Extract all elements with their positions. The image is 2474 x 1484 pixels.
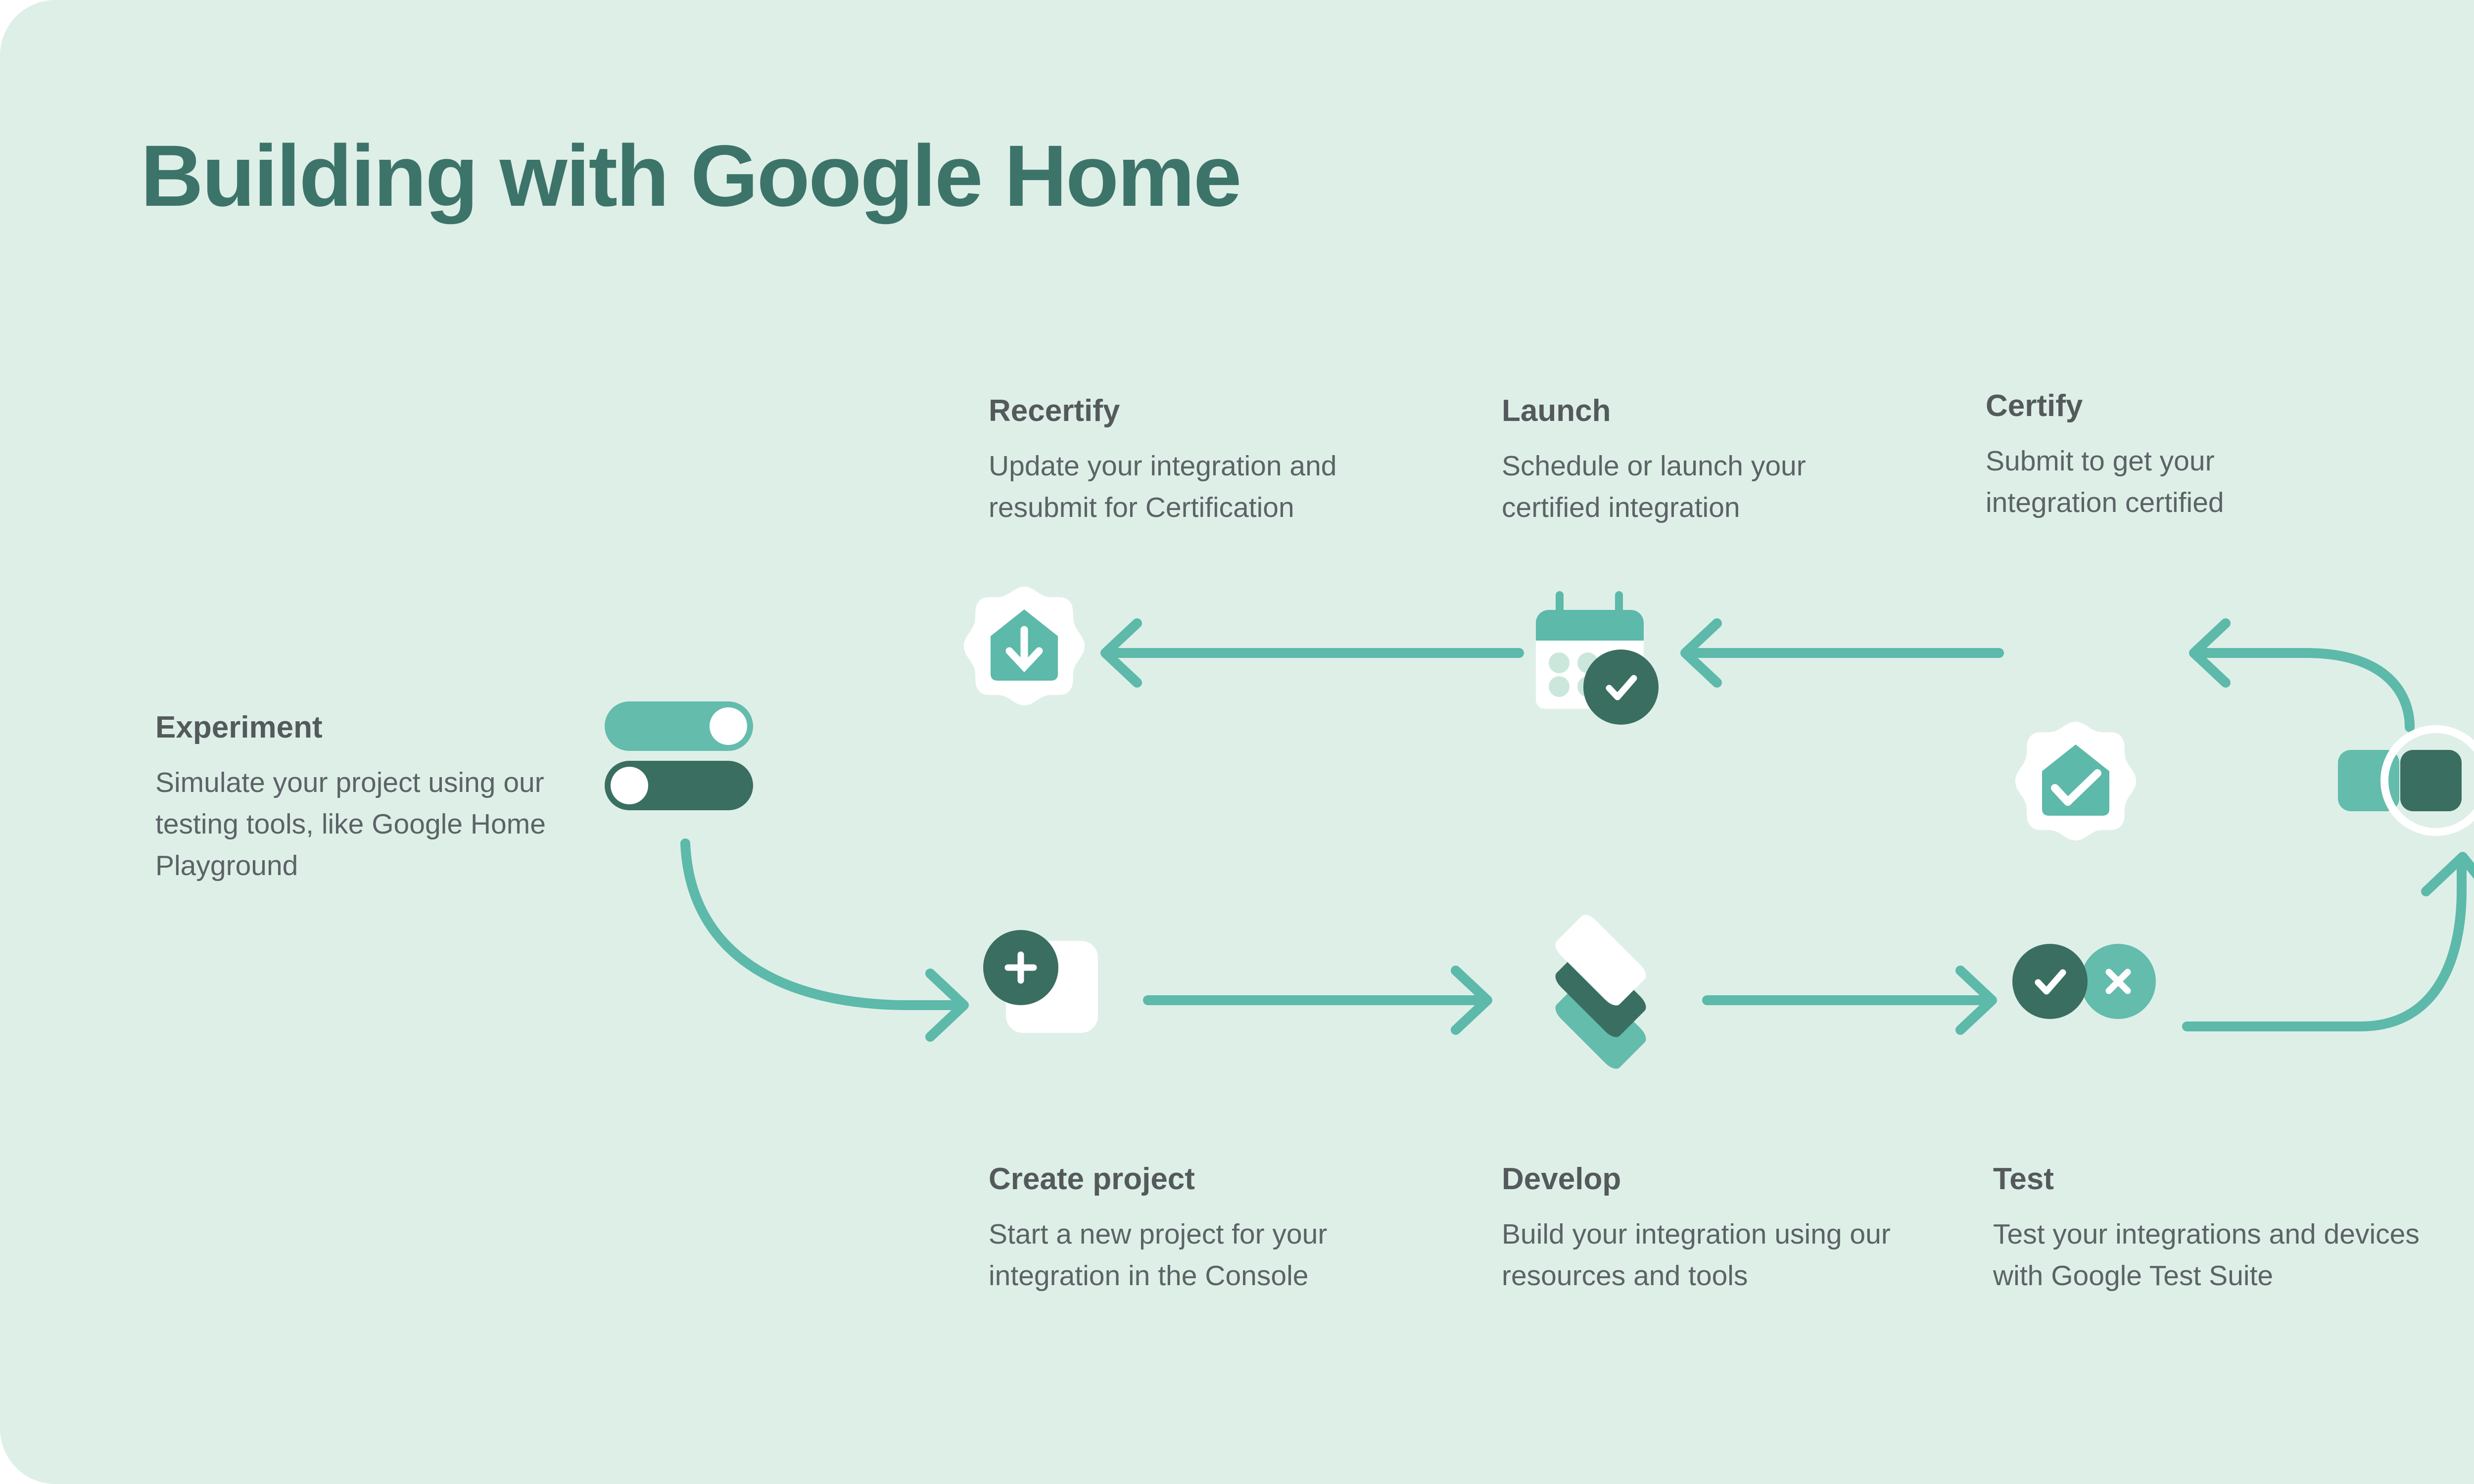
badge-download-icon[interactable] bbox=[955, 584, 1094, 722]
arrowhead-develop bbox=[1456, 971, 1487, 1030]
calendar-check-icon[interactable] bbox=[1536, 591, 1674, 730]
step-launch: Launch Schedule or launch your certified… bbox=[1502, 394, 1863, 529]
step-description-certify: Submit to get your integration certified bbox=[1986, 441, 2312, 524]
step-description-develop: Build your integration using our resourc… bbox=[1502, 1214, 1912, 1297]
check-glyph bbox=[1596, 662, 1646, 712]
step-create-project: Create project Start a new project for y… bbox=[989, 1162, 1384, 1297]
step-description-experiment: Simulate your project using our testing … bbox=[155, 762, 586, 886]
selection-ring-icon bbox=[2380, 725, 2474, 836]
calendar-day-dot bbox=[1549, 676, 1570, 697]
step-develop: Develop Build your integration using our… bbox=[1502, 1162, 1912, 1297]
scalloped-badge-shape bbox=[955, 584, 1094, 722]
certified-badge-icon[interactable] bbox=[2006, 719, 2145, 857]
step-description-recertify: Update your integration and resubmit for… bbox=[989, 446, 1399, 529]
step-test: Test Test your integrations and devices … bbox=[1993, 1162, 2453, 1297]
check-and-cross-icon[interactable] bbox=[2012, 944, 2166, 1028]
step-title-certify: Certify bbox=[1986, 389, 2312, 423]
arrow-field-to-certify bbox=[2197, 653, 2410, 727]
plus-glyph bbox=[996, 943, 1046, 992]
plus-circle-icon bbox=[983, 930, 1058, 1005]
toggle-switch-off[interactable] bbox=[605, 761, 753, 810]
arrowhead-certify bbox=[2194, 623, 2226, 683]
arrowhead-test bbox=[1960, 971, 1992, 1030]
toggle-knob bbox=[611, 767, 648, 804]
toggle-switch-on[interactable] bbox=[605, 701, 753, 751]
step-title-test: Test bbox=[1993, 1162, 2453, 1196]
diagram-canvas: Building with Google Home bbox=[0, 0, 2474, 1484]
scalloped-badge-shape bbox=[2006, 719, 2145, 857]
step-description-launch: Schedule or launch your certified integr… bbox=[1502, 446, 1863, 529]
calendar-header bbox=[1536, 610, 1644, 641]
check-circle-icon bbox=[1583, 649, 1659, 725]
step-title-launch: Launch bbox=[1502, 394, 1863, 428]
page-title: Building with Google Home bbox=[141, 133, 1240, 220]
arrow-test-to-field bbox=[2187, 861, 2462, 1026]
step-description-test: Test your integrations and devices with … bbox=[1993, 1214, 2453, 1297]
toggle-switches-icon[interactable] bbox=[605, 701, 753, 810]
arrowhead-field bbox=[2426, 857, 2474, 893]
arrowhead-create bbox=[930, 974, 964, 1037]
add-card-icon[interactable] bbox=[983, 930, 1122, 1054]
step-title-recertify: Recertify bbox=[989, 394, 1399, 428]
step-recertify: Recertify Update your integration and re… bbox=[989, 394, 1399, 529]
check-glyph bbox=[2025, 957, 2075, 1006]
toggle-knob bbox=[710, 707, 747, 745]
cross-glyph bbox=[2093, 957, 2143, 1006]
arrow-experiment-to-create bbox=[685, 843, 960, 1005]
step-experiment: Experiment Simulate your project using o… bbox=[155, 711, 586, 887]
step-title-develop: Develop bbox=[1502, 1162, 1912, 1196]
arrowhead-recertify bbox=[1105, 623, 1137, 683]
calendar-day-dot bbox=[1549, 652, 1570, 673]
arrowhead-launch bbox=[1685, 623, 1717, 683]
layers-icon[interactable] bbox=[1526, 921, 1674, 1060]
step-description-create-project: Start a new project for your integration… bbox=[989, 1214, 1384, 1297]
step-title-experiment: Experiment bbox=[155, 711, 586, 744]
step-title-create-project: Create project bbox=[989, 1162, 1384, 1196]
step-certify: Certify Submit to get your integration c… bbox=[1986, 389, 2312, 524]
diagram-card: Building with Google Home bbox=[0, 0, 2474, 1484]
device-group-icon[interactable] bbox=[2338, 728, 2474, 842]
cross-circle-icon bbox=[2081, 944, 2156, 1019]
check-circle-icon bbox=[2012, 944, 2088, 1019]
